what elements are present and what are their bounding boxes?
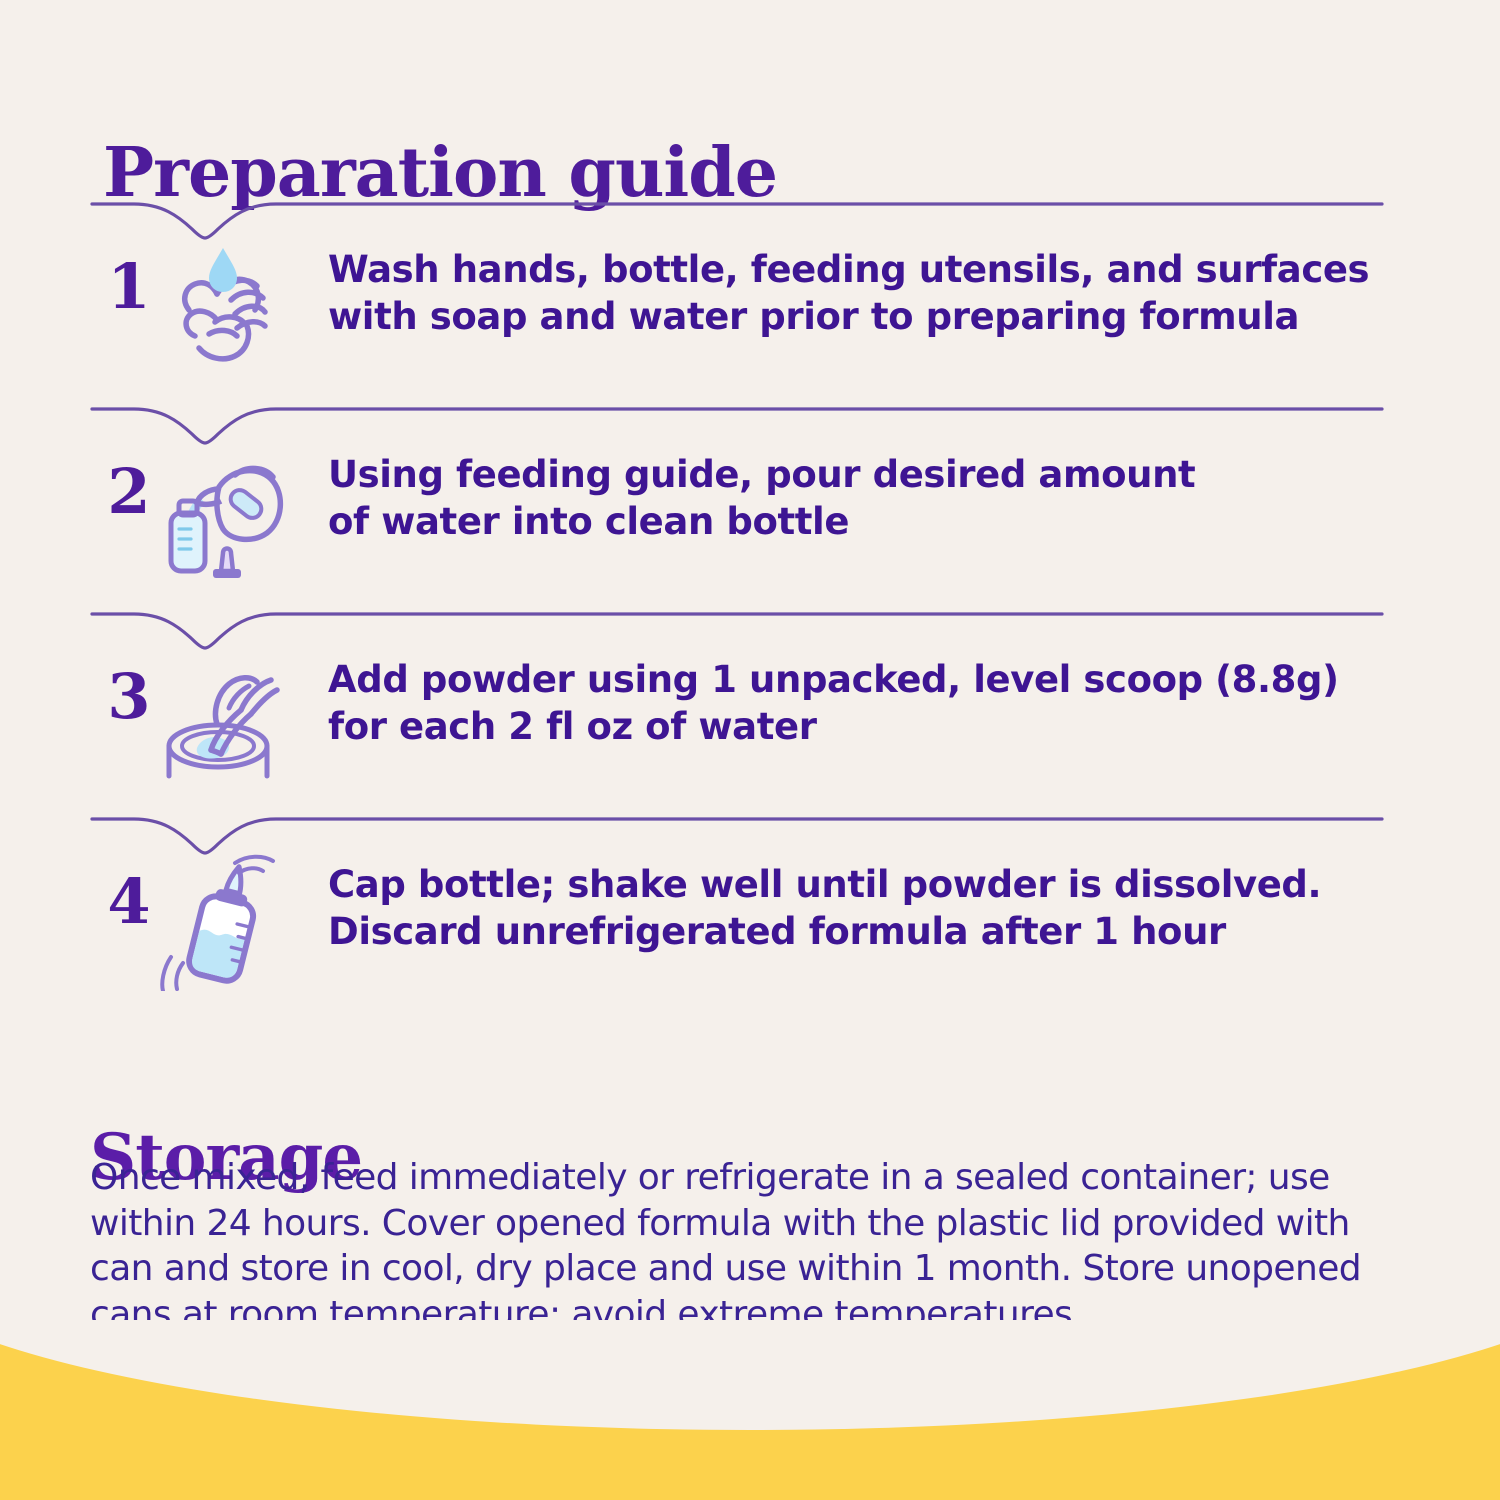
shaking-bottle-icon xyxy=(155,851,295,991)
step-item: 4 xyxy=(0,813,1500,1013)
preparation-guide-page: Preparation guide 1 xyxy=(0,0,1500,1500)
step-number: 4 xyxy=(96,871,162,933)
step-number: 2 xyxy=(96,461,162,523)
page-title: Preparation guide xyxy=(103,139,777,207)
step-item: 1 xyxy=(0,198,1500,398)
step-number: 1 xyxy=(96,256,162,318)
scoop-powder-can-icon xyxy=(155,646,295,786)
step-text: Cap bottle; shake well until powder is d… xyxy=(328,861,1388,956)
bottom-yellow-band xyxy=(0,1320,1500,1500)
storage-text: Once mixed, feed immediately or refriger… xyxy=(90,1155,1380,1338)
washing-hands-icon xyxy=(155,236,295,376)
bottom-arc-shape xyxy=(0,1320,1500,1430)
kettle-pouring-bottle-icon xyxy=(155,441,295,581)
step-text: Wash hands, bottle, feeding utensils, an… xyxy=(328,246,1388,341)
step-text: Add powder using 1 unpacked, level scoop… xyxy=(328,656,1388,751)
step-item: 3 xyxy=(0,608,1500,808)
step-text: Using feeding guide, pour desired amount… xyxy=(328,451,1388,546)
step-item: 2 xyxy=(0,403,1500,603)
step-number: 3 xyxy=(96,666,162,728)
